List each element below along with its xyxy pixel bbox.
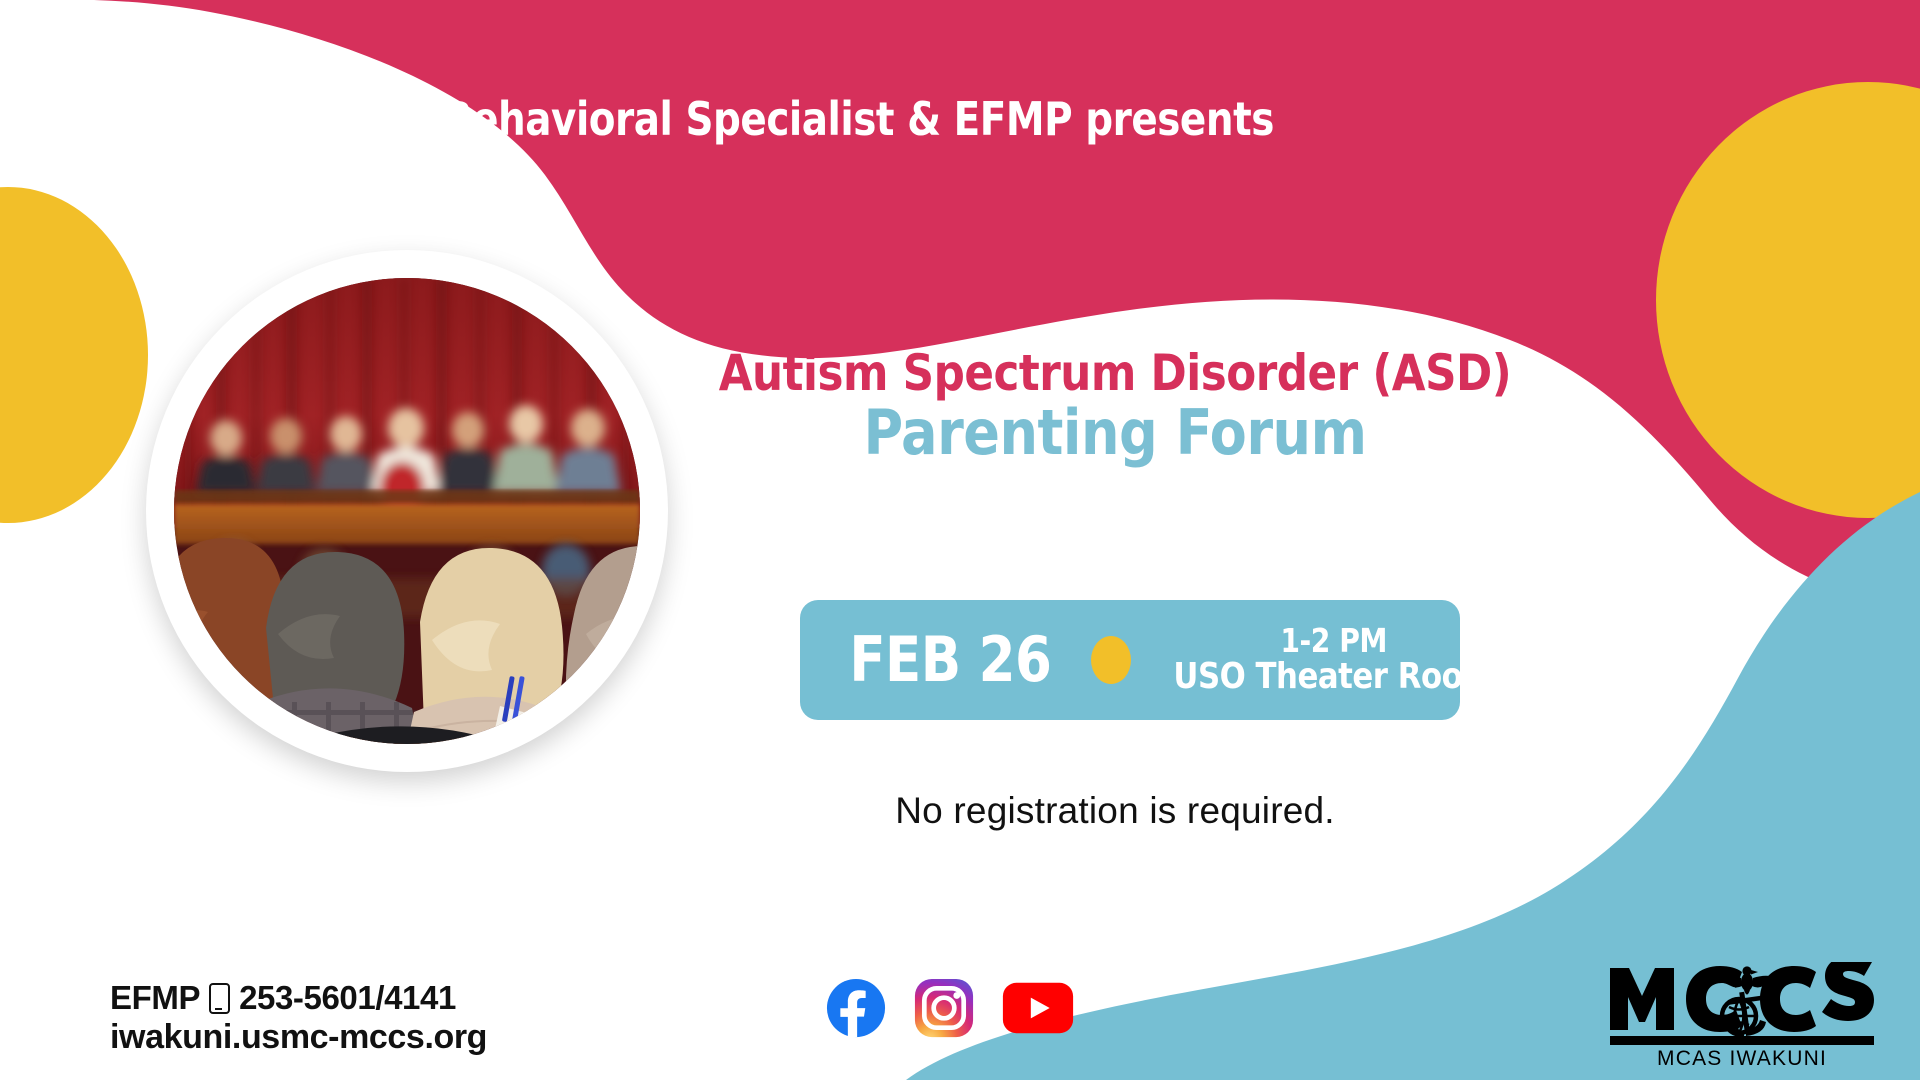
event-title-secondary: Parenting Forum: [669, 401, 1561, 465]
youtube-icon[interactable]: [1002, 981, 1074, 1035]
photo-frame: [146, 250, 668, 772]
contact-block: EFMP 253-5601/4141 iwakuni.usmc-mccs.org: [110, 980, 580, 1056]
contact-program-label: EFMP: [110, 980, 200, 1016]
instagram-glyph: [914, 978, 974, 1038]
contact-phone-number: 253-5601/4141: [239, 980, 456, 1016]
event-details-bar: FEB 26 1-2 PM USO Theater Room: [800, 600, 1460, 720]
audience-photo-illustration: [174, 278, 640, 744]
event-title-primary: Autism Spectrum Disorder (ASD): [669, 348, 1561, 399]
flyer-canvas: CYP Behavioral Specialist & EFMP present…: [0, 0, 1920, 1080]
event-time-location: 1-2 PM USO Theater Room: [1165, 624, 1514, 696]
facebook-glyph: [826, 978, 886, 1038]
mccs-logo: MCAS IWAKUNI: [1608, 962, 1876, 1070]
mobile-phone-icon: [209, 983, 230, 1014]
social-links: [826, 978, 1074, 1038]
facebook-icon[interactable]: [826, 978, 886, 1038]
mccs-logo-artwork: MCAS IWAKUNI: [1608, 962, 1876, 1070]
event-time: 1-2 PM: [1173, 624, 1493, 658]
event-title-block: Autism Spectrum Disorder (ASD) Parenting…: [655, 348, 1575, 465]
page-title: CYP Behavioral Specialist & EFMP present…: [49, 96, 1572, 142]
yellow-circle-left: [0, 187, 148, 523]
event-location: USO Theater Room: [1173, 658, 1493, 696]
contact-website[interactable]: iwakuni.usmc-mccs.org: [110, 1018, 580, 1056]
event-date: FEB 26: [849, 629, 1051, 691]
audience-photo: [174, 278, 640, 744]
youtube-glyph: [1002, 981, 1074, 1035]
registration-note: No registration is required.: [655, 790, 1575, 832]
yellow-dot-icon: [1091, 636, 1131, 684]
mccs-tagline: MCAS IWAKUNI: [1657, 1047, 1827, 1070]
instagram-icon[interactable]: [914, 978, 974, 1038]
contact-phone-row: EFMP 253-5601/4141: [110, 980, 580, 1016]
